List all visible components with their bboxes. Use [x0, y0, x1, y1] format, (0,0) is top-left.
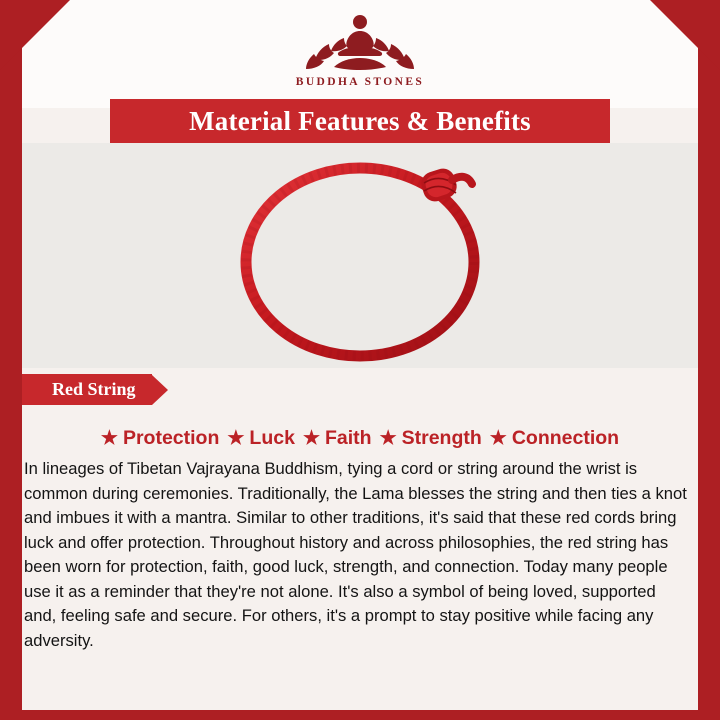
benefit-label: Strength [402, 427, 482, 450]
ribbon-body: Red String [22, 374, 152, 405]
star-icon: ★ [303, 429, 320, 448]
infographic-page: BUDDHA STONES Material Features & Benefi… [0, 0, 720, 720]
benefit-label: Protection [123, 427, 219, 450]
frame-bottom-bar [0, 710, 720, 720]
star-icon: ★ [227, 429, 244, 448]
ribbon-label: Red String [52, 379, 136, 400]
benefit-item-connection: ★ Connection [486, 427, 623, 450]
frame-left-bar [0, 0, 22, 720]
page-title: Material Features & Benefits [189, 106, 531, 137]
benefit-label: Connection [512, 427, 619, 450]
benefit-item-protection: ★ Protection [97, 427, 223, 450]
star-icon: ★ [380, 429, 397, 448]
benefit-label: Faith [325, 427, 372, 450]
title-banner: Material Features & Benefits [110, 99, 610, 143]
star-icon: ★ [101, 429, 118, 448]
benefit-item-strength: ★ Strength [376, 427, 486, 450]
ribbon-tail [152, 375, 168, 405]
braided-red-cord-bracelet-icon [210, 150, 510, 370]
brand-name: BUDDHA STONES [0, 76, 720, 88]
benefits-list: ★ Protection ★ Luck ★ Faith ★ Strength ★… [22, 420, 698, 456]
product-label-ribbon: Red String [22, 374, 168, 405]
lotus-meditation-icon [304, 57, 416, 74]
benefit-label: Luck [249, 427, 295, 450]
benefit-item-luck: ★ Luck [223, 427, 299, 450]
frame-right-bar [698, 0, 720, 720]
description-text: In lineages of Tibetan Vajrayana Buddhis… [24, 457, 698, 653]
brand-logo: BUDDHA STONES [0, 8, 720, 88]
benefit-item-faith: ★ Faith [299, 427, 376, 450]
star-icon: ★ [490, 429, 507, 448]
product-image [0, 140, 720, 380]
